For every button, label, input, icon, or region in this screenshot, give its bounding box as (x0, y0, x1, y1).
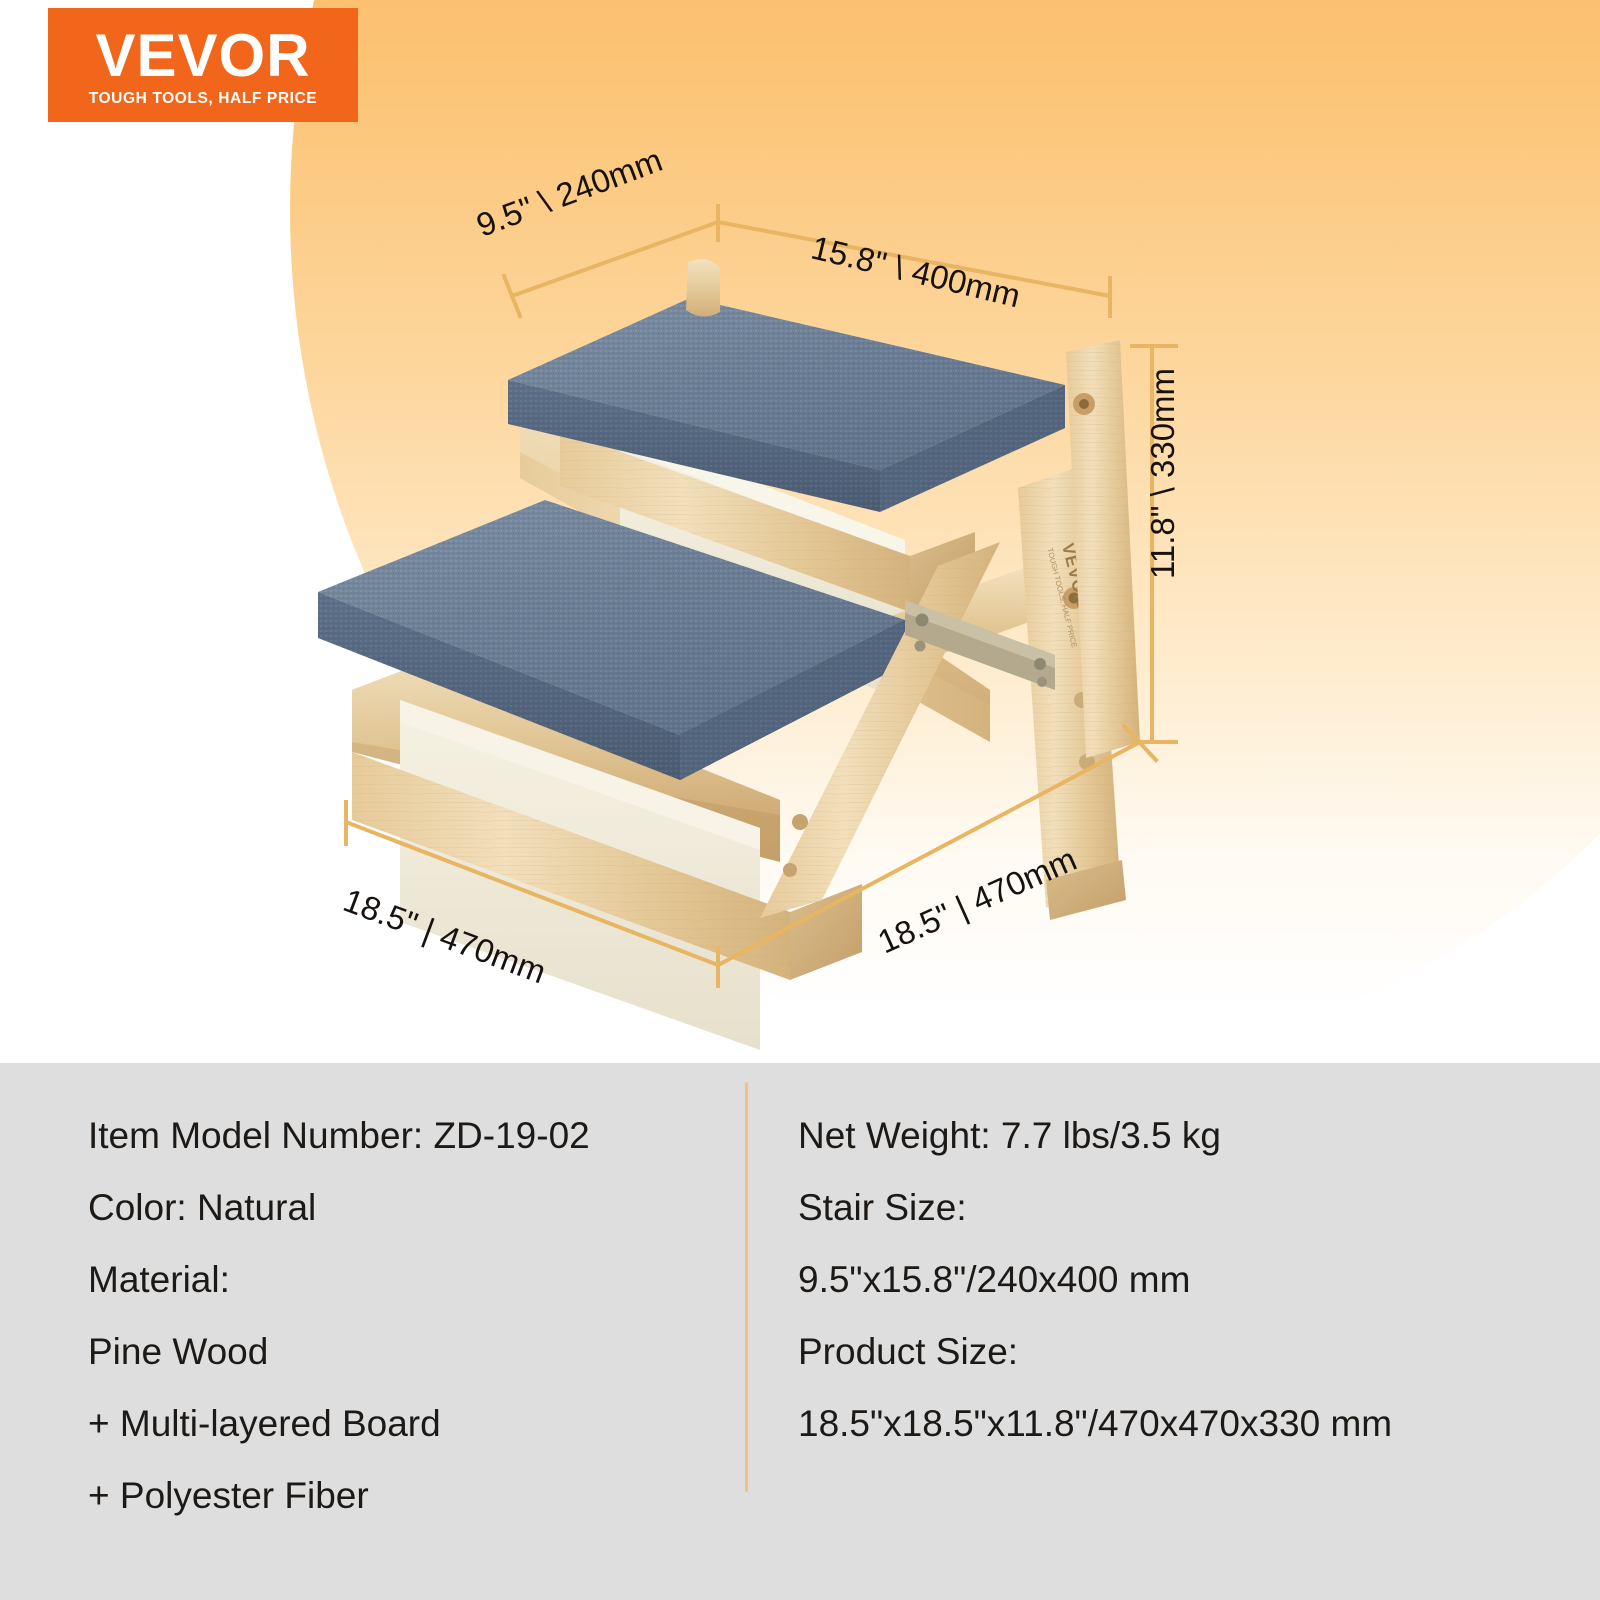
logo-wordmark: VEVOR (95, 26, 310, 86)
spec-line-product-size-value: 18.5"x18.5"x11.8"/470x470x330 mm (798, 1388, 1558, 1460)
spec-line-material-3: + Polyester Fiber (88, 1460, 708, 1532)
spec-line-net-weight: Net Weight: 7.7 lbs/3.5 kg (798, 1100, 1558, 1172)
spec-column-divider (745, 1082, 748, 1492)
spec-line-stair-size-label: Stair Size: (798, 1172, 1558, 1244)
logo-tagline: TOUGH TOOLS, HALF PRICE (89, 90, 318, 108)
spec-column-right: Net Weight: 7.7 lbs/3.5 kg Stair Size: 9… (798, 1100, 1558, 1460)
spec-line-material-2: + Multi-layered Board (88, 1388, 708, 1460)
vevor-logo: VEVOR TOUGH TOOLS, HALF PRICE (48, 8, 358, 122)
spec-line-model: Item Model Number: ZD-19-02 (88, 1100, 708, 1172)
product-image: VEVOR TOUGH TOOLS, HALF PRICE (0, 0, 1600, 1063)
spec-line-stair-size-value: 9.5"x15.8"/240x400 mm (798, 1244, 1558, 1316)
spec-column-left: Item Model Number: ZD-19-02 Color: Natur… (88, 1100, 708, 1532)
top-knob (686, 259, 720, 316)
spec-line-material-label: Material: (88, 1244, 708, 1316)
spec-line-product-size-label: Product Size: (798, 1316, 1558, 1388)
spec-line-color: Color: Natural (88, 1172, 708, 1244)
dimension-label-height: 11.8" \ 330mm (1144, 368, 1182, 579)
spec-line-material-1: Pine Wood (88, 1316, 708, 1388)
